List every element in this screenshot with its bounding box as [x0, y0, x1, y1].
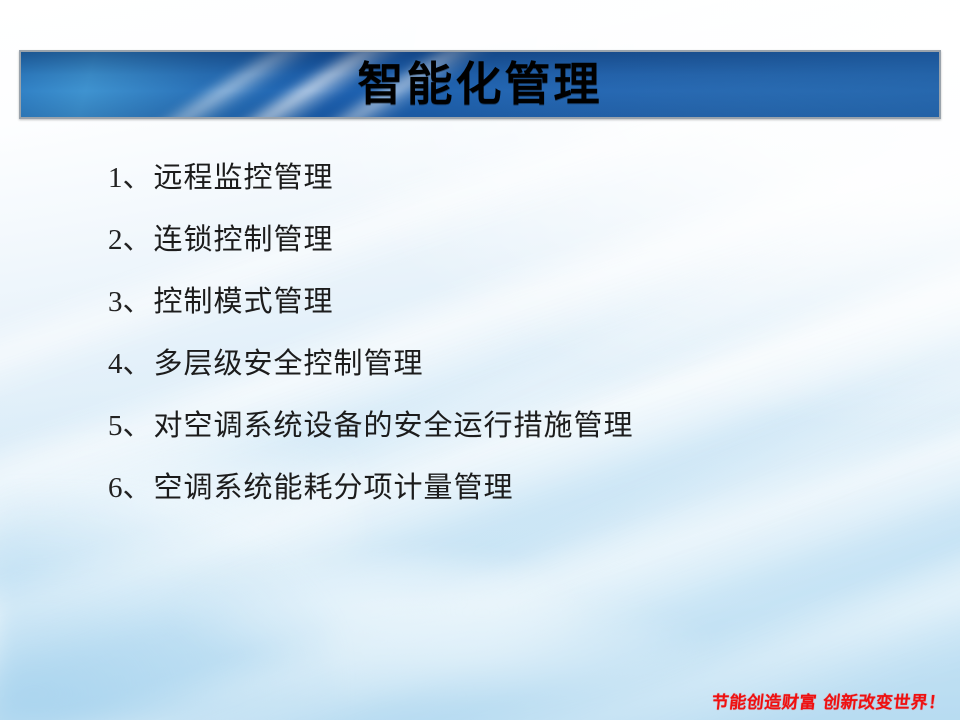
list-item-label: 多层级安全控制管理	[154, 344, 424, 382]
content-list: 1、 远程监控管理 2、 连锁控制管理 3、 控制模式管理 4、 多层级安全控制…	[108, 158, 908, 530]
list-item-label: 空调系统能耗分项计量管理	[154, 468, 514, 506]
list-item: 5、 对空调系统设备的安全运行措施管理	[108, 406, 908, 468]
list-item: 1、 远程监控管理	[108, 158, 908, 220]
list-item-label: 远程监控管理	[154, 158, 334, 196]
title-banner: 智能化管理	[19, 50, 941, 119]
list-item: 3、 控制模式管理	[108, 282, 908, 344]
list-item-label: 对空调系统设备的安全运行措施管理	[154, 406, 634, 444]
presentation-slide: 智能化管理 1、 远程监控管理 2、 连锁控制管理 3、 控制模式管理 4、 多…	[0, 0, 960, 720]
list-item-number: 6、	[108, 469, 152, 507]
list-item: 2、 连锁控制管理	[108, 220, 908, 282]
list-item-number: 5、	[108, 407, 152, 445]
slide-title: 智能化管理	[21, 52, 939, 117]
list-item-number: 4、	[108, 345, 152, 383]
list-item-number: 1、	[108, 159, 152, 197]
list-item: 4、 多层级安全控制管理	[108, 344, 908, 406]
list-item: 6、 空调系统能耗分项计量管理	[108, 468, 908, 530]
list-item-label: 控制模式管理	[154, 282, 334, 320]
list-item-label: 连锁控制管理	[154, 220, 334, 258]
footer-slogan: 节能创造财富 创新改变世界！	[711, 688, 948, 713]
list-item-number: 3、	[108, 283, 152, 321]
list-item-number: 2、	[108, 221, 152, 259]
